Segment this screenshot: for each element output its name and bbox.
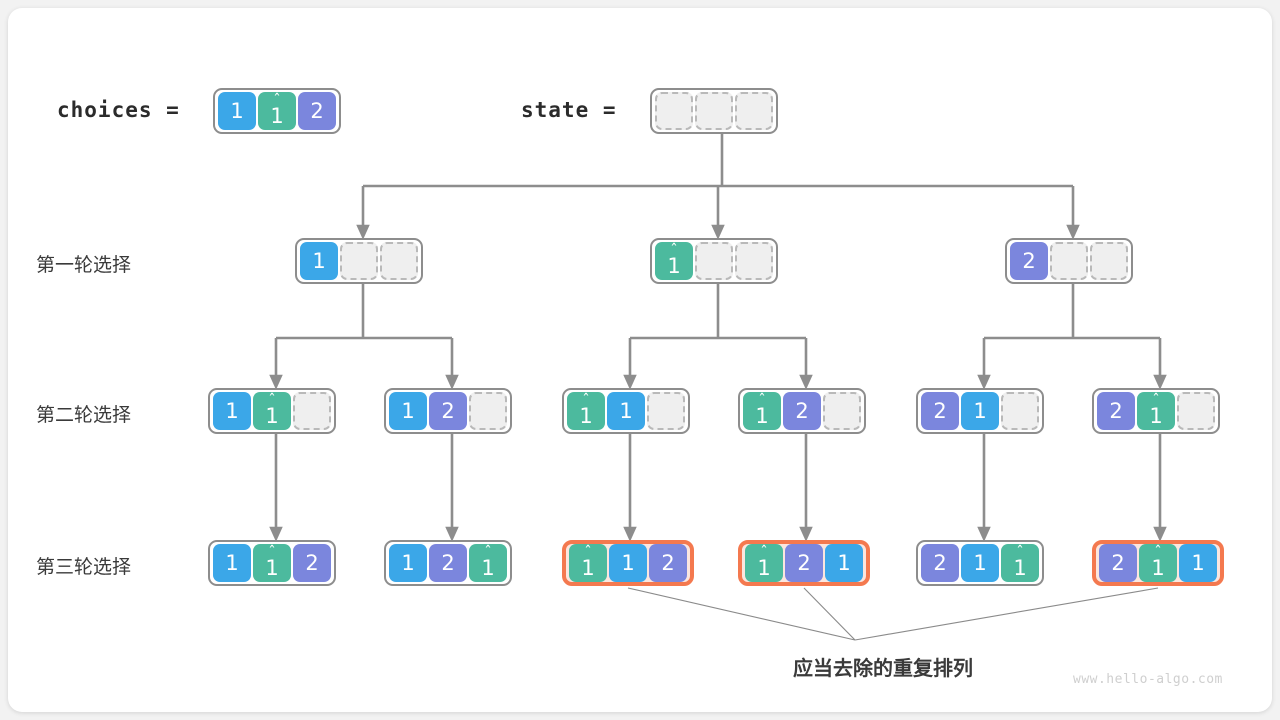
array-cell: 2 [298, 92, 336, 130]
array-cell-empty [695, 242, 733, 280]
cell-value: 1 [973, 553, 986, 574]
cell-value: 1 [1191, 553, 1204, 574]
state-node-level3-4: ˆ121 [738, 540, 870, 586]
array-cell: 2 [649, 544, 687, 582]
array-cell: ˆ1 [253, 392, 291, 430]
cell-value: 2 [1111, 553, 1124, 574]
array-cell: 2 [1010, 242, 1048, 280]
cell-value: 2 [933, 401, 946, 422]
array-cell: 2 [921, 392, 959, 430]
array-cell-empty [655, 92, 693, 130]
array-cell-empty [735, 92, 773, 130]
cell-value: 2 [441, 553, 454, 574]
array-cell: 2 [785, 544, 823, 582]
row-label-level3: 第三轮选择 [36, 552, 131, 579]
state-node-level2-6: 2ˆ1 [1092, 388, 1220, 434]
array-cell: 1 [389, 392, 427, 430]
array-cell: ˆ1 [569, 544, 607, 582]
array-cell: 1 [961, 392, 999, 430]
array-cell-empty [823, 392, 861, 430]
array-cell: 1 [609, 544, 647, 582]
state-node-level2-5: 21 [916, 388, 1044, 434]
array-cell: ˆ1 [1137, 392, 1175, 430]
array-cell-empty [1090, 242, 1128, 280]
cell-value: 1 [230, 101, 243, 122]
array-cell: 1 [213, 392, 251, 430]
cell-value: 1 [265, 406, 278, 427]
state-node-level3-2: 12ˆ1 [384, 540, 512, 586]
array-cell: 1 [213, 544, 251, 582]
cell-value: 1 [1149, 406, 1162, 427]
array-cell: ˆ1 [567, 392, 605, 430]
cell-value: 1 [481, 558, 494, 579]
array-cell: 1 [218, 92, 256, 130]
row-label-level1: 第一轮选择 [36, 250, 131, 277]
cell-value: 1 [973, 401, 986, 422]
cell-value: 1 [401, 553, 414, 574]
array-cell: 1 [607, 392, 645, 430]
cell-value: 1 [265, 558, 278, 579]
cell-value: 1 [270, 106, 283, 127]
choices-label: choices = [57, 98, 180, 122]
cell-value: 2 [933, 553, 946, 574]
array-cell: ˆ1 [745, 544, 783, 582]
cell-value: 2 [310, 101, 323, 122]
cell-value: 1 [312, 251, 325, 272]
state-array [650, 88, 778, 134]
state-node-level3-3: ˆ112 [562, 540, 694, 586]
array-cell: 2 [1099, 544, 1137, 582]
cell-value: 2 [305, 553, 318, 574]
array-cell: ˆ1 [258, 92, 296, 130]
cell-value: 2 [1109, 401, 1122, 422]
cell-value: 2 [797, 553, 810, 574]
array-cell-empty [647, 392, 685, 430]
diagram-card [8, 8, 1272, 712]
cell-value: 1 [621, 553, 634, 574]
cell-value: 2 [441, 401, 454, 422]
cell-value: 1 [581, 558, 594, 579]
array-cell: ˆ1 [743, 392, 781, 430]
array-cell-empty [1001, 392, 1039, 430]
array-cell: 2 [429, 392, 467, 430]
array-cell: ˆ1 [655, 242, 693, 280]
array-cell: 1 [1179, 544, 1217, 582]
state-node-level1-2: ˆ1 [650, 238, 778, 284]
array-cell-empty [1050, 242, 1088, 280]
array-cell: 1 [300, 242, 338, 280]
cell-value: 1 [401, 401, 414, 422]
diagram-canvas: choices = 1ˆ12 state = 第一轮选择 第二轮选择 第三轮选择… [0, 0, 1280, 720]
array-cell-empty [340, 242, 378, 280]
cell-value: 1 [1151, 558, 1164, 579]
state-node-level2-3: ˆ11 [562, 388, 690, 434]
array-cell: ˆ1 [1139, 544, 1177, 582]
choices-array: 1ˆ12 [213, 88, 341, 134]
watermark: www.hello-algo.com [1073, 672, 1223, 687]
cell-value: 1 [579, 406, 592, 427]
array-cell-empty [735, 242, 773, 280]
state-node-level2-1: 1ˆ1 [208, 388, 336, 434]
state-node-level1-1: 1 [295, 238, 423, 284]
array-cell: 2 [429, 544, 467, 582]
cell-value: 1 [755, 406, 768, 427]
state-node-level3-1: 1ˆ12 [208, 540, 336, 586]
array-cell-empty [293, 392, 331, 430]
state-node-level1-3: 2 [1005, 238, 1133, 284]
cell-value: 1 [837, 553, 850, 574]
array-cell: 2 [293, 544, 331, 582]
row-label-level2: 第二轮选择 [36, 400, 131, 427]
array-cell-empty [695, 92, 733, 130]
state-node-level3-6: 2ˆ11 [1092, 540, 1224, 586]
state-node-level2-4: ˆ12 [738, 388, 866, 434]
array-cell: ˆ1 [469, 544, 507, 582]
cell-value: 2 [1022, 251, 1035, 272]
array-cell: 2 [783, 392, 821, 430]
duplicate-caption: 应当去除的重复排列 [793, 652, 973, 681]
array-cell: ˆ1 [253, 544, 291, 582]
cell-value: 1 [225, 553, 238, 574]
cell-value: 1 [225, 401, 238, 422]
state-node-level3-5: 21ˆ1 [916, 540, 1044, 586]
cell-value: 1 [667, 256, 680, 277]
array-cell-empty [1177, 392, 1215, 430]
cell-value: 2 [795, 401, 808, 422]
array-cell: 2 [1097, 392, 1135, 430]
array-cell: 1 [389, 544, 427, 582]
state-node-level2-2: 12 [384, 388, 512, 434]
array-cell: 2 [921, 544, 959, 582]
cell-value: 1 [1013, 558, 1026, 579]
cell-value: 1 [619, 401, 632, 422]
array-cell-empty [469, 392, 507, 430]
state-label: state = [521, 98, 617, 122]
array-cell: 1 [961, 544, 999, 582]
cell-value: 2 [661, 553, 674, 574]
array-cell: ˆ1 [1001, 544, 1039, 582]
array-cell-empty [380, 242, 418, 280]
cell-value: 1 [757, 558, 770, 579]
array-cell: 1 [825, 544, 863, 582]
